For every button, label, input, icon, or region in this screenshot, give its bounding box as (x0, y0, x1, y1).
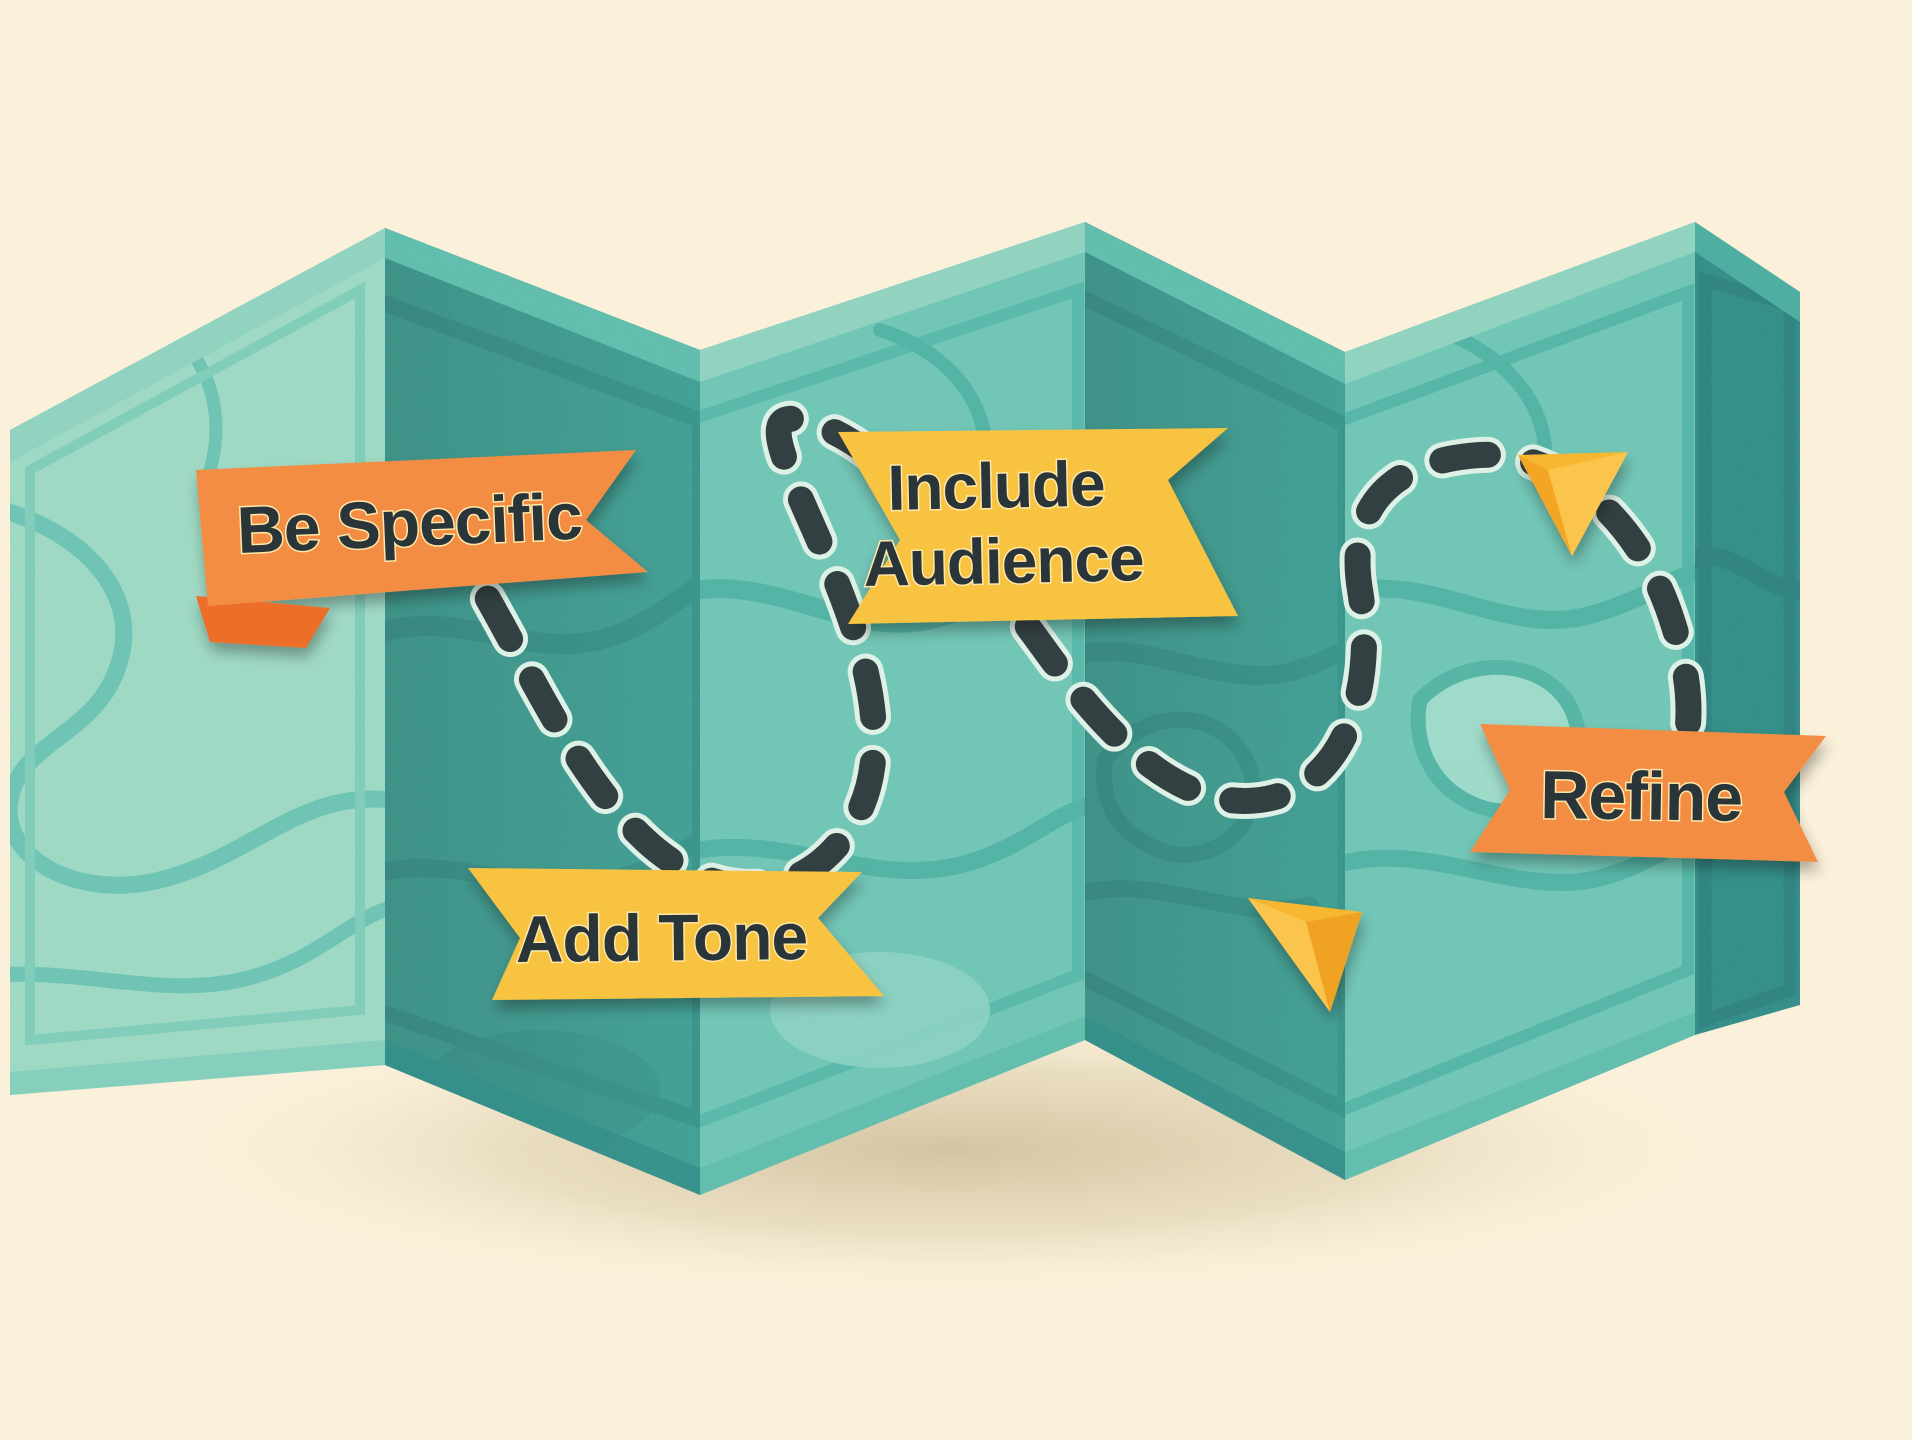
paper-grain-overlay (0, 0, 1912, 1440)
map-illustration: Be Specific Include Audience Add Tone Re… (0, 0, 1912, 1440)
illustration-canvas: Be Specific Include Audience Add Tone Re… (0, 0, 1912, 1440)
